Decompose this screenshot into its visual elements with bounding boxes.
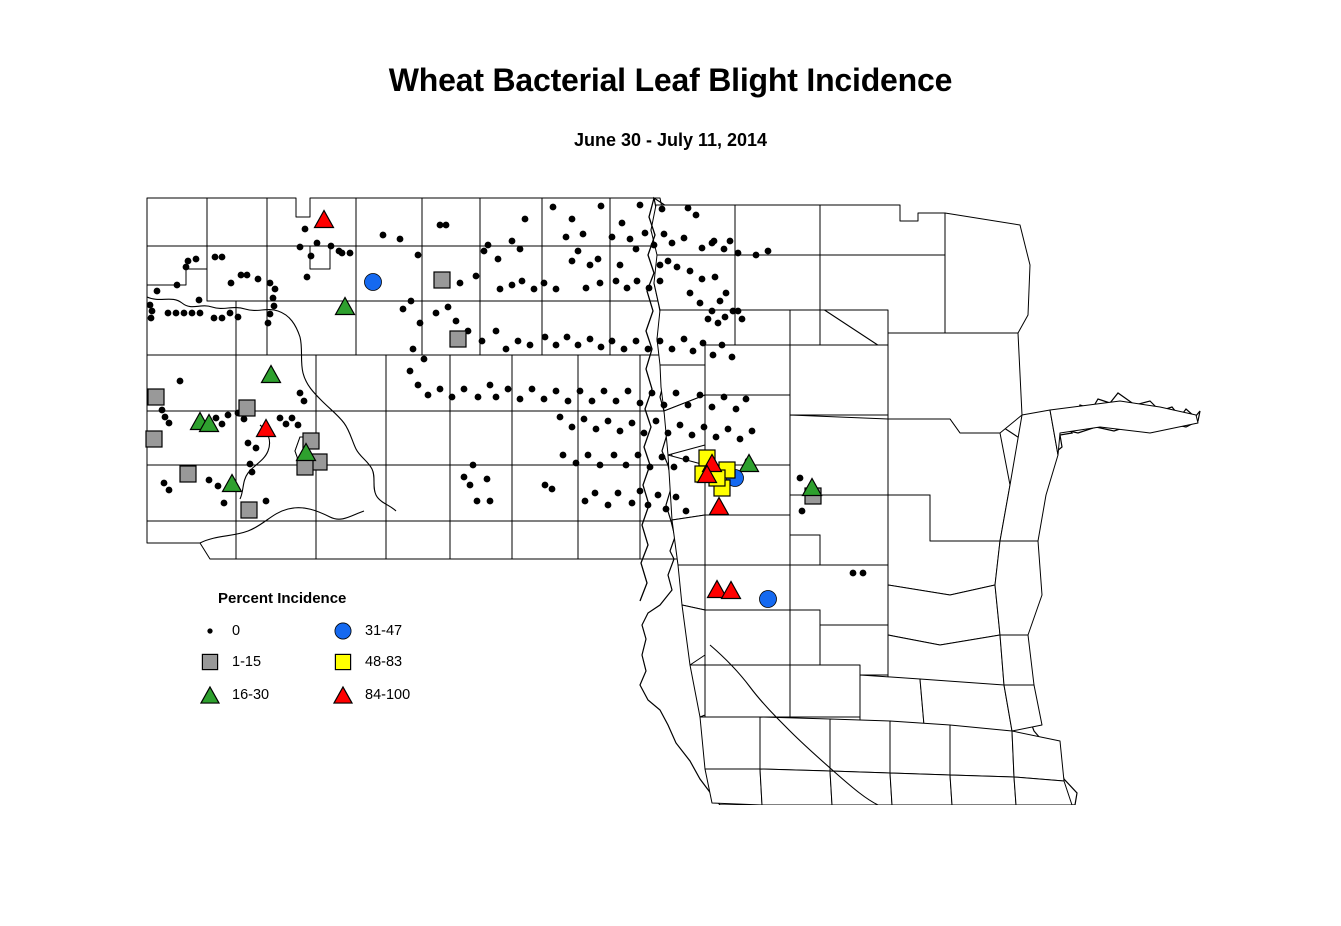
marker-0 [162, 414, 168, 420]
marker-0 [647, 464, 653, 470]
marker-0 [595, 256, 601, 262]
legend-label: 0 [232, 623, 240, 639]
marker-0 [302, 226, 308, 232]
marker-0 [449, 394, 455, 400]
marker-0 [619, 220, 625, 226]
marker-1-15 [434, 272, 450, 288]
marker-0 [587, 336, 593, 342]
marker-0 [173, 310, 179, 316]
marker-0 [598, 203, 604, 209]
marker-0 [629, 500, 635, 506]
marker-0 [730, 308, 736, 314]
marker-0 [799, 508, 805, 514]
marker-31-47 [760, 591, 777, 608]
marker-0 [481, 248, 487, 254]
marker-0 [609, 234, 615, 240]
marker-0 [225, 412, 231, 418]
marker-0 [687, 290, 693, 296]
marker-0 [743, 396, 749, 402]
marker-0 [605, 418, 611, 424]
marker-0 [625, 388, 631, 394]
marker-0 [505, 386, 511, 392]
marker-0 [509, 238, 515, 244]
marker-0 [470, 462, 476, 468]
marker-0 [735, 250, 741, 256]
marker-1-15 [146, 431, 162, 447]
marker-0 [174, 282, 180, 288]
marker-0 [560, 452, 566, 458]
legend-item-1-15: 1-15 [202, 654, 261, 670]
marker-0 [693, 212, 699, 218]
marker-0 [601, 388, 607, 394]
marker-0 [715, 320, 721, 326]
marker-0 [669, 240, 675, 246]
marker-0 [634, 278, 640, 284]
marker-0 [509, 282, 515, 288]
marker-0 [183, 264, 189, 270]
marker-0 [719, 342, 725, 348]
marker-0 [646, 285, 652, 291]
marker-0 [474, 498, 480, 504]
marker-0 [681, 235, 687, 241]
marker-0 [637, 488, 643, 494]
legend-title: Percent Incidence [218, 590, 346, 607]
marker-0 [665, 258, 671, 264]
marker-0 [671, 464, 677, 470]
marker-0 [569, 216, 575, 222]
marker-0 [701, 424, 707, 430]
marker-0 [277, 415, 283, 421]
marker-0 [211, 315, 217, 321]
marker-0 [629, 420, 635, 426]
marker-0 [649, 390, 655, 396]
legend-label: 31-47 [365, 623, 402, 639]
legend-item-84-100: 84-100 [334, 687, 410, 703]
legend-item-0: 0 [208, 623, 240, 639]
marker-0 [221, 500, 227, 506]
marker-0 [487, 382, 493, 388]
choropleth-map: Percent Incidence 01-1516-3031-4748-8384… [0, 165, 1341, 805]
marker-0 [295, 422, 301, 428]
marker-0 [621, 346, 627, 352]
marker-0 [527, 342, 533, 348]
marker-0 [642, 230, 648, 236]
marker-0 [725, 426, 731, 432]
marker-0 [690, 348, 696, 354]
marker-0 [308, 253, 314, 259]
marker-0 [565, 398, 571, 404]
marker-0 [569, 258, 575, 264]
marker-0 [493, 394, 499, 400]
marker-0 [283, 421, 289, 427]
marker-0 [575, 342, 581, 348]
marker-0 [272, 286, 278, 292]
marker-0 [657, 338, 663, 344]
marker-0 [663, 506, 669, 512]
legend-label: 16-30 [232, 687, 269, 703]
marker-0 [605, 502, 611, 508]
marker-0 [415, 252, 421, 258]
marker-0 [673, 494, 679, 500]
marker-0 [185, 258, 191, 264]
marker-0 [593, 426, 599, 432]
marker-0 [453, 318, 459, 324]
marker-0 [408, 298, 414, 304]
minnesota-counties [651, 205, 1198, 805]
marker-0 [425, 392, 431, 398]
marker-0 [657, 278, 663, 284]
marker-0 [267, 280, 273, 286]
marker-0 [633, 338, 639, 344]
marker-0 [665, 430, 671, 436]
marker-0 [227, 310, 233, 316]
marker-0 [597, 462, 603, 468]
marker-0 [860, 570, 866, 576]
marker-0 [484, 476, 490, 482]
marker-0 [617, 428, 623, 434]
marker-0 [177, 378, 183, 384]
marker-0 [215, 483, 221, 489]
marker-0 [479, 338, 485, 344]
marker-0 [244, 272, 250, 278]
marker-0 [685, 205, 691, 211]
marker-0 [397, 236, 403, 242]
marker-1-15 [148, 389, 164, 405]
marker-0 [557, 414, 563, 420]
marker-0 [219, 315, 225, 321]
marker-0 [687, 268, 693, 274]
marker-0 [154, 288, 160, 294]
marker-0 [609, 338, 615, 344]
marker-0 [641, 430, 647, 436]
marker-1-15 [180, 466, 196, 482]
marker-0 [517, 396, 523, 402]
marker-0 [587, 262, 593, 268]
marker-0 [737, 436, 743, 442]
marker-0 [699, 245, 705, 251]
marker-0 [149, 308, 155, 314]
page-title: Wheat Bacterial Leaf Blight Incidence [0, 62, 1341, 99]
marker-0 [475, 394, 481, 400]
marker-0 [729, 354, 735, 360]
marker-0 [550, 204, 556, 210]
legend-label: 48-83 [365, 654, 402, 670]
marker-0 [592, 490, 598, 496]
marker-0 [181, 310, 187, 316]
marker-0 [765, 248, 771, 254]
marker-0 [681, 336, 687, 342]
marker-0 [627, 236, 633, 242]
marker-0 [655, 492, 661, 498]
marker-0 [749, 428, 755, 434]
marker-0 [598, 344, 604, 350]
marker-0 [519, 278, 525, 284]
marker-0 [147, 302, 153, 308]
marker-0 [850, 570, 856, 576]
legend-item-16-30: 16-30 [201, 687, 269, 703]
marker-0 [206, 477, 212, 483]
marker-0 [304, 274, 310, 280]
marker-0 [212, 254, 218, 260]
marker-0 [297, 244, 303, 250]
marker-0 [542, 482, 548, 488]
marker-0 [553, 286, 559, 292]
marker-0 [517, 246, 523, 252]
marker-0 [189, 310, 195, 316]
page-subtitle: June 30 - July 11, 2014 [0, 130, 1341, 151]
marker-0 [733, 406, 739, 412]
marker-0 [653, 418, 659, 424]
marker-0 [659, 454, 665, 460]
marker-0 [253, 445, 259, 451]
marker-1-15 [450, 331, 466, 347]
marker-0 [615, 490, 621, 496]
marker-0 [645, 346, 651, 352]
marker-0 [727, 238, 733, 244]
marker-1-15 [239, 400, 255, 416]
marker-0 [597, 280, 603, 286]
marker-1-15 [297, 459, 313, 475]
marker-0 [542, 334, 548, 340]
marker-0 [651, 242, 657, 248]
marker-0 [267, 311, 273, 317]
marker-0 [443, 222, 449, 228]
marker-0 [219, 421, 225, 427]
marker-0 [213, 415, 219, 421]
marker-0 [699, 276, 705, 282]
marker-0 [637, 400, 643, 406]
marker-0 [709, 308, 715, 314]
marker-0 [503, 346, 509, 352]
map-legend: Percent Incidence 01-1516-3031-4748-8384… [201, 590, 410, 703]
marker-0 [721, 246, 727, 252]
marker-0 [624, 285, 630, 291]
marker-31-47 [365, 274, 382, 291]
marker-0 [613, 398, 619, 404]
map-page: Wheat Bacterial Leaf Blight Incidence Ju… [0, 0, 1341, 926]
marker-0 [637, 202, 643, 208]
legend-item-48-83: 48-83 [335, 654, 402, 670]
marker-0 [709, 404, 715, 410]
marker-0 [577, 388, 583, 394]
marker-0 [265, 320, 271, 326]
marker-0 [722, 314, 728, 320]
marker-0 [159, 407, 165, 413]
marker-0 [263, 498, 269, 504]
marker-0 [437, 222, 443, 228]
marker-0 [270, 295, 276, 301]
marker-0 [437, 386, 443, 392]
marker-0 [582, 498, 588, 504]
marker-0 [677, 422, 683, 428]
marker-0 [529, 386, 535, 392]
marker-0 [541, 396, 547, 402]
marker-0 [623, 462, 629, 468]
marker-0 [247, 461, 253, 467]
marker-0 [569, 424, 575, 430]
marker-0 [495, 256, 501, 262]
marker-0 [673, 390, 679, 396]
marker-0 [271, 303, 277, 309]
marker-0 [241, 416, 247, 422]
marker-0 [461, 474, 467, 480]
marker-0 [417, 320, 423, 326]
marker-0 [611, 452, 617, 458]
marker-0 [467, 482, 473, 488]
legend-label: 1-15 [232, 654, 261, 670]
marker-0 [228, 280, 234, 286]
marker-0 [289, 415, 295, 421]
marker-0 [659, 206, 665, 212]
marker-0 [633, 246, 639, 252]
marker-1-15 [241, 502, 257, 518]
marker-0 [347, 250, 353, 256]
marker-0 [531, 286, 537, 292]
marker-0 [711, 238, 717, 244]
marker-0 [249, 469, 255, 475]
map-canvas: Percent Incidence 01-1516-3031-4748-8384… [0, 165, 1341, 805]
marker-0 [583, 285, 589, 291]
marker-0 [238, 272, 244, 278]
marker-0 [407, 368, 413, 374]
marker-0 [541, 280, 547, 286]
marker-0 [165, 310, 171, 316]
marker-0 [712, 274, 718, 280]
marker-0 [617, 262, 623, 268]
marker-0 [635, 452, 641, 458]
marker-0 [705, 316, 711, 322]
marker-0 [193, 256, 199, 262]
marker-0 [739, 316, 745, 322]
marker-0 [575, 248, 581, 254]
marker-0 [717, 298, 723, 304]
marker-0 [166, 487, 172, 493]
marker-0 [553, 388, 559, 394]
legend-label: 84-100 [365, 687, 410, 703]
marker-0 [613, 278, 619, 284]
marker-0 [713, 434, 719, 440]
marker-0 [493, 328, 499, 334]
marker-0 [314, 240, 320, 246]
marker-0 [461, 386, 467, 392]
marker-0 [497, 286, 503, 292]
marker-0 [515, 338, 521, 344]
marker-0 [589, 398, 595, 404]
marker-0 [433, 310, 439, 316]
marker-0 [645, 502, 651, 508]
marker-0 [148, 315, 154, 321]
marker-0 [255, 276, 261, 282]
marker-0 [661, 402, 667, 408]
marker-0 [161, 480, 167, 486]
marker-0 [415, 382, 421, 388]
marker-0 [553, 342, 559, 348]
marker-0 [487, 498, 493, 504]
marker-0 [683, 508, 689, 514]
marker-0 [689, 432, 695, 438]
marker-0 [473, 273, 479, 279]
marker-0 [697, 300, 703, 306]
marker-0 [581, 416, 587, 422]
marker-0 [410, 346, 416, 352]
marker-0 [697, 392, 703, 398]
marker-0 [235, 314, 241, 320]
legend-item-31-47: 31-47 [335, 623, 402, 639]
marker-0 [380, 232, 386, 238]
marker-0 [723, 290, 729, 296]
marker-0 [753, 252, 759, 258]
marker-0 [457, 280, 463, 286]
north-dakota-counties [147, 198, 683, 559]
marker-0 [683, 456, 689, 462]
marker-0 [674, 264, 680, 270]
marker-0 [710, 352, 716, 358]
marker-0 [685, 402, 691, 408]
marker-0 [445, 304, 451, 310]
marker-0 [585, 452, 591, 458]
marker-0 [700, 340, 706, 346]
marker-0 [669, 346, 675, 352]
marker-0 [400, 306, 406, 312]
marker-0 [485, 242, 491, 248]
marker-0 [197, 310, 203, 316]
marker-0 [549, 486, 555, 492]
marker-0 [166, 420, 172, 426]
marker-0 [661, 231, 667, 237]
marker-0 [563, 234, 569, 240]
marker-0 [301, 398, 307, 404]
marker-0 [564, 334, 570, 340]
marker-0 [721, 394, 727, 400]
marker-0 [297, 390, 303, 396]
marker-0 [339, 250, 345, 256]
marker-0 [522, 216, 528, 222]
marker-0 [328, 243, 334, 249]
marker-0 [657, 262, 663, 268]
marker-0 [245, 440, 251, 446]
marker-0 [219, 254, 225, 260]
marker-0 [196, 297, 202, 303]
marker-0 [573, 460, 579, 466]
marker-0 [421, 356, 427, 362]
marker-0 [797, 475, 803, 481]
marker-0 [580, 231, 586, 237]
